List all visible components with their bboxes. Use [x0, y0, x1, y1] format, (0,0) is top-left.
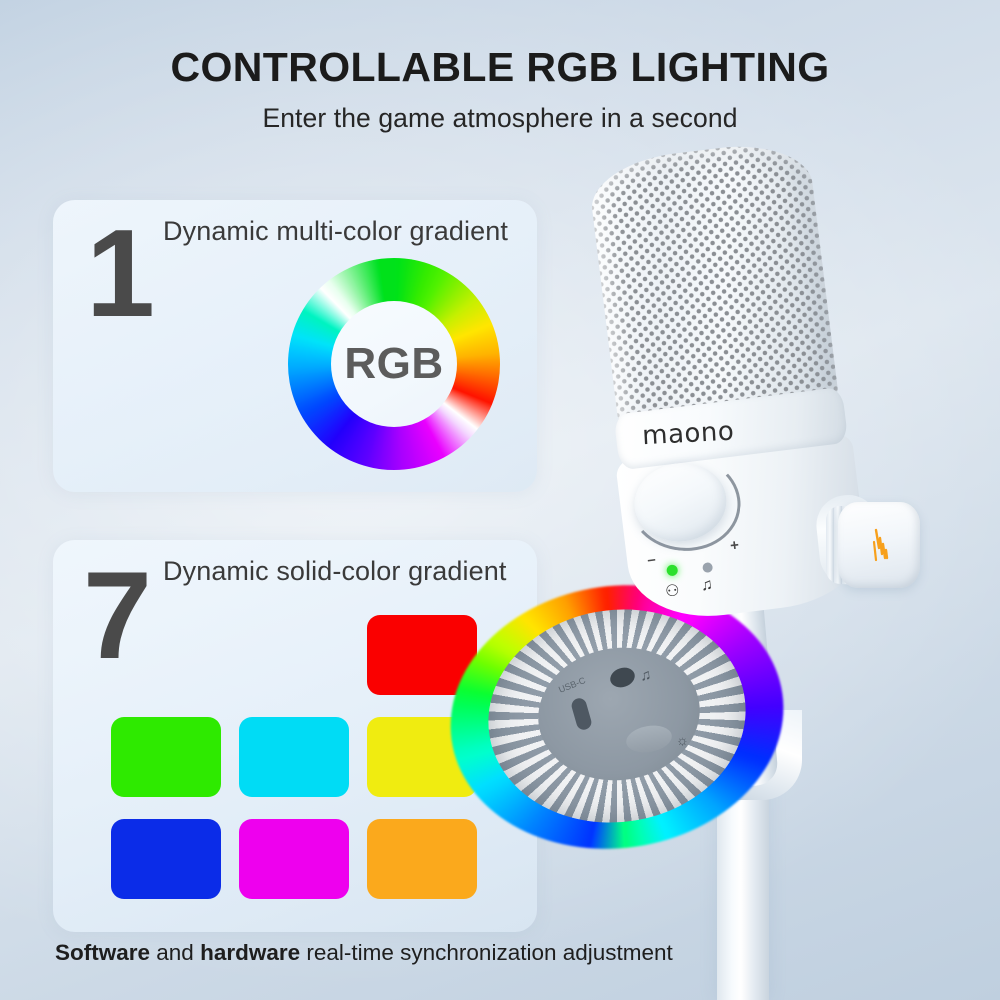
page-title: CONTROLLABLE RGB LIGHTING [0, 46, 1000, 89]
microphone-product-image: ♫ USB-C ☼ maono – + ⚇ ♫ [440, 140, 1000, 1000]
rgb-label: RGB [344, 339, 443, 389]
page-subtitle: Enter the game atmosphere in a second [0, 103, 1000, 134]
footer-mid: and [150, 940, 200, 965]
card-number-1: 1 [86, 212, 153, 336]
mount-knob-cap[interactable] [838, 502, 920, 588]
footer-bold-hardware: hardware [200, 940, 300, 965]
maono-waveform-logo-icon [864, 528, 894, 562]
swatch-blue[interactable] [111, 819, 221, 899]
swatch-magenta[interactable] [239, 819, 349, 899]
brand-logo-text: maono [641, 417, 735, 452]
swatch-cyan[interactable] [239, 717, 349, 797]
headphone-icon: ♫ [639, 666, 653, 684]
swatch-empty-2 [239, 615, 349, 695]
volume-plus-label: + [729, 537, 740, 555]
swatch-green[interactable] [111, 717, 221, 797]
swatch-empty-1 [111, 615, 221, 695]
microphone-icon: ⚇ [664, 580, 681, 602]
mic-grille-mesh [587, 137, 840, 428]
header: CONTROLLABLE RGB LIGHTING Enter the game… [0, 0, 1000, 134]
rgb-ring-center: RGB [331, 301, 457, 427]
footer-bold-software: Software [55, 940, 150, 965]
brightness-icon: ☼ [676, 732, 689, 748]
headset-icon: ♫ [700, 576, 714, 595]
